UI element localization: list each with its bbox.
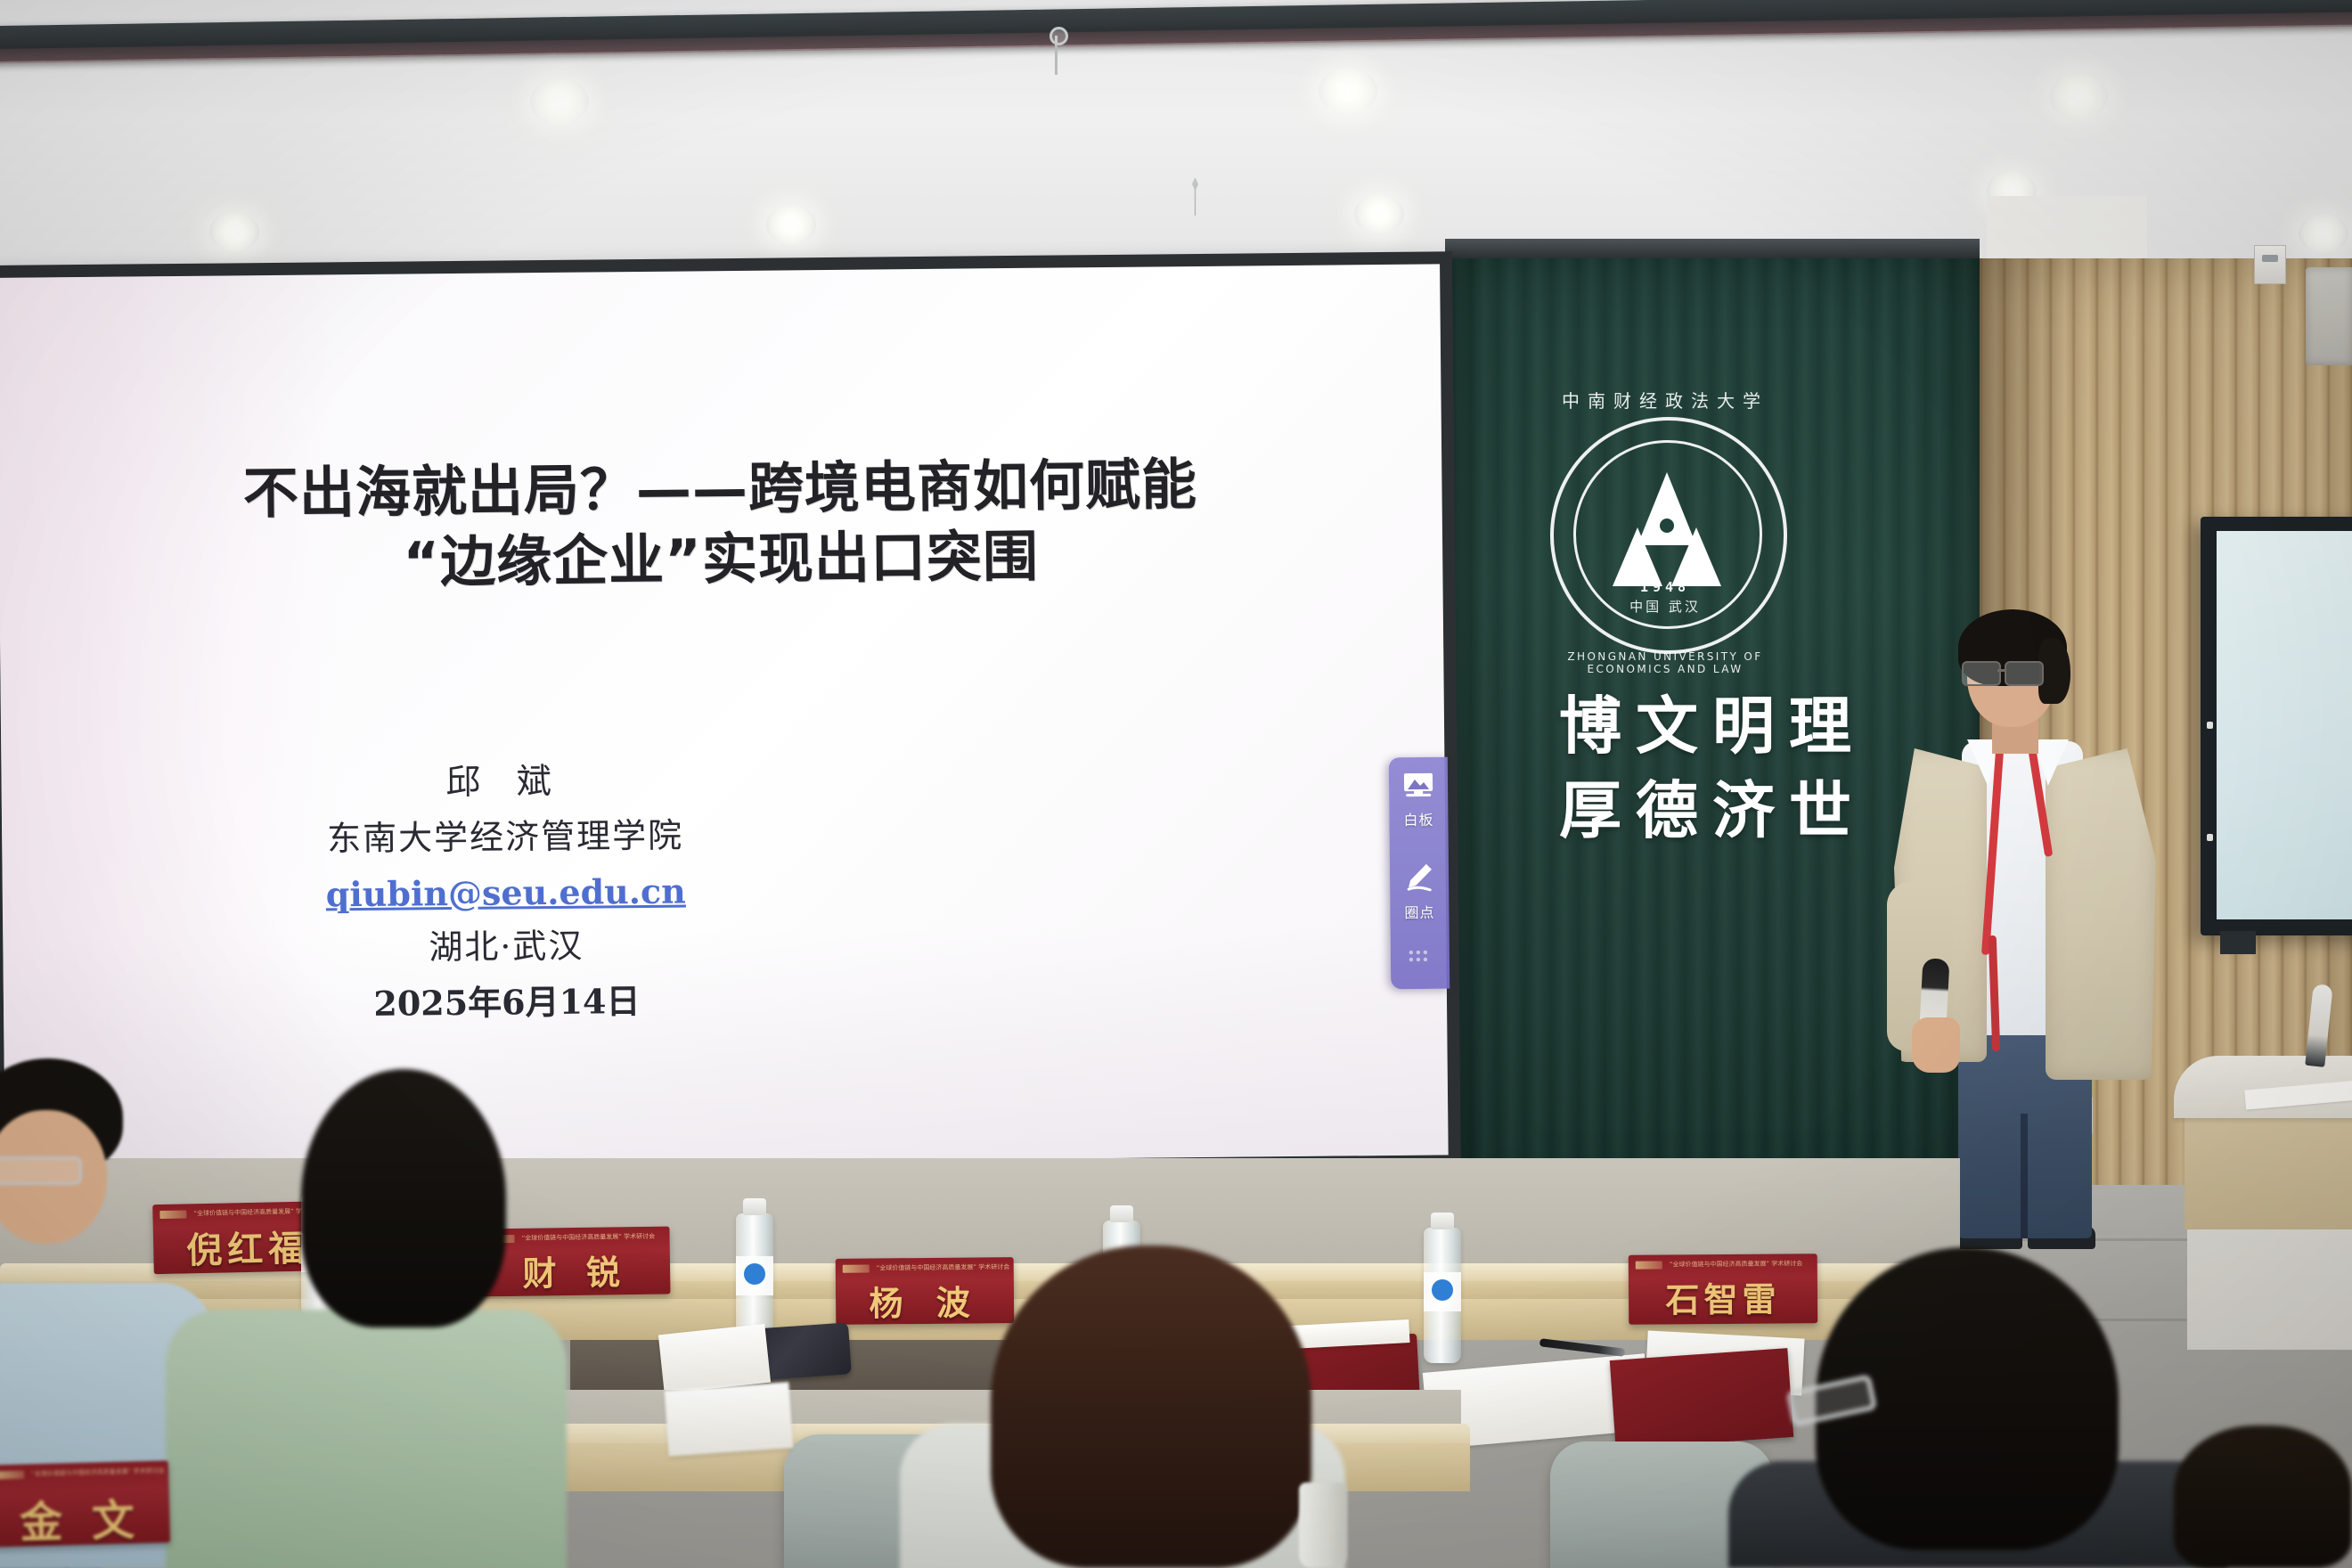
thermos-cup [1299, 1482, 1347, 1568]
side-display-screen [2217, 531, 2352, 919]
ceiling-downlight [2299, 214, 2348, 253]
bottle-badge-icon [744, 1263, 765, 1285]
university-logo-icon: 中南财经政法大学 1948 中国 武汉 ZHONGNAN UNIVERSITY … [1550, 417, 1791, 657]
university-motto: 博文明理 厚德济世 [1499, 684, 1926, 853]
nameplate-name: 金 文 [0, 1483, 170, 1547]
logo-english-name: ZHONGNAN UNIVERSITY OF ECONOMICS AND LAW [1550, 650, 1780, 675]
nameplate-header: “全球价值链与中国经济高质量发展” 学术研讨会 [836, 1261, 1014, 1275]
audience-head [1816, 1247, 2119, 1568]
eyeglasses-icon [1962, 661, 2054, 684]
audience-head [0, 1058, 134, 1263]
nameplate: “全球价值链与中国经济高质量发展” 学术研讨会 金 文 [0, 1460, 170, 1547]
nameplate-subtitle: “全球价值链与中国经济高质量发展” 学术研讨会 [877, 1262, 1010, 1272]
whiteboard-icon [1389, 772, 1448, 804]
nameplate-logo-icon [1636, 1261, 1662, 1269]
toolbar-annotate-label: 圈点 [1390, 901, 1449, 923]
nameplate-name: 石智雷 [1629, 1271, 1817, 1321]
ceiling-downlight [766, 205, 816, 244]
slide-title: 不出海就出局？——跨境电商如何赋能 “边缘企业”实现出口突围 [0, 446, 1443, 601]
presenter-jacket-right [2046, 748, 2156, 1080]
toolbar-whiteboard-label: 白板 [1389, 808, 1448, 830]
red-folder [1610, 1348, 1793, 1450]
bottle-label [736, 1256, 773, 1295]
presenter-person [1880, 615, 2147, 1247]
audience-hair [2174, 1425, 2352, 1568]
slide-title-line-2: “边缘企业”实现出口突围 [0, 518, 1443, 602]
nameplate-name: 财 锐 [481, 1245, 671, 1296]
nameplate-subtitle: “全球价值链与中国经济高质量发展” 学术研讨会 [1670, 1259, 1803, 1269]
ceiling-downlight [1319, 68, 1377, 114]
logo-triangle-top [1637, 472, 1696, 545]
projected-slide: 不出海就出局？——跨境电商如何赋能 “边缘企业”实现出口突围 邱 斌 东南大学经… [0, 264, 1449, 1169]
conference-room-photo: 中南财经政法大学 1948 中国 武汉 ZHONGNAN UNIVERSITY … [0, 0, 2352, 1568]
audience-eyeglasses-icon [0, 1156, 82, 1185]
bottle-cap [743, 1198, 766, 1215]
slide-date: 2025年6月14日 [4, 970, 1011, 1034]
water-bottle [1424, 1228, 1461, 1363]
wall-speaker-icon [2306, 267, 2352, 365]
nameplate: “全球价值链与中国经济高质量发展” 学术研讨会 杨 波 [836, 1257, 1015, 1325]
logo-chinese-name: 中南财经政法大学 [1550, 387, 1780, 412]
nameplate-logo-icon [159, 1210, 186, 1219]
logo-city: 中国 武汉 [1550, 597, 1780, 616]
logo-triangle-mark [1614, 472, 1719, 588]
slide-email-link[interactable]: qiubin@seu.edu.cn [3, 861, 1010, 925]
ceiling-downlight [1354, 194, 1404, 233]
slide-affiliation: 东南大学经济管理学院 [2, 805, 1009, 870]
audience-head [2174, 1425, 2352, 1568]
audience-head [991, 1245, 1311, 1568]
nameplate-header: “全球价值链与中国经济高质量发展” 学术研讨会 [0, 1464, 168, 1481]
bottle-cap [1110, 1205, 1133, 1222]
eyeglass-lens-right [2005, 661, 2044, 686]
bottle-badge-icon [1432, 1279, 1453, 1301]
eyeglass-bridge [1997, 669, 2006, 672]
nameplate: “全球价值链与中国经济高质量发展” 学术研讨会 财 锐 [480, 1227, 670, 1297]
screen-hook-icon [1049, 27, 1064, 73]
nameplate: “全球价值链与中国经济高质量发展” 学术研讨会 石智雷 [1629, 1254, 1818, 1324]
ceiling-downlight [209, 212, 259, 251]
more-dots-icon [1391, 948, 1450, 968]
motto-line-1: 博文明理 [1499, 684, 1926, 769]
ceiling-downlight [2049, 73, 2108, 119]
audience-hair [991, 1245, 1311, 1568]
audience-shoulders [166, 1310, 567, 1568]
monitor-button[interactable] [2207, 722, 2213, 729]
nameplate-header: “全球价值链与中国经济高质量发展” 学术研讨会 [481, 1230, 670, 1245]
screen-glare-left [0, 274, 344, 1169]
toolbar-annotate-button[interactable]: 圈点 [1390, 862, 1450, 923]
toolbar-more-label [1391, 972, 1450, 973]
ceiling-downlight [530, 78, 589, 125]
nameplate-subtitle: “全球价值链与中国经济高质量发展” 学术研讨会 [522, 1232, 656, 1243]
logo-founding-year: 1948 [1550, 579, 1780, 595]
audience-hair [301, 1069, 506, 1327]
presenter-trouser-seam [2021, 1114, 2028, 1238]
bottle-cap [1431, 1213, 1454, 1229]
logo-triangle-dot [1660, 519, 1674, 533]
slide-location: 湖北·武汉 [3, 915, 1010, 979]
eyeglass-lens-left [1962, 661, 2001, 686]
paper-document [658, 1324, 771, 1393]
banner-top-trim [1445, 239, 1980, 258]
bottle-label [1424, 1272, 1461, 1311]
presenter-hand-left [1912, 1017, 1960, 1073]
slide-presenter-name: 邱 斌 [1, 749, 1009, 815]
monitor-button[interactable] [2207, 834, 2213, 841]
wall-sensor-icon [2254, 245, 2286, 284]
nameplate-name: 杨 波 [836, 1275, 1014, 1325]
slide-presenter-block: 邱 斌 东南大学经济管理学院 qiubin@seu.edu.cn 湖北·武汉 2… [1, 749, 1010, 1034]
pencil-icon [1390, 862, 1449, 897]
toolbar-more-button[interactable] [1391, 948, 1450, 973]
motto-line-2: 厚德济世 [1499, 769, 1926, 853]
slide-title-line-1: 不出海就出局？——跨境电商如何赋能 [243, 452, 1198, 526]
audience-head [301, 1069, 506, 1336]
monitor-stand [2220, 931, 2256, 954]
nameplate-header: “全球价值链与中国经济高质量发展” 学术研讨会 [1629, 1257, 1817, 1270]
screen-side-toolbar[interactable]: 白板 圈点 [1389, 757, 1450, 990]
side-display-monitor [2201, 517, 2352, 935]
paper-document [665, 1382, 794, 1457]
nameplate-subtitle: “全球价值链与中国经济高质量发展” 学术研讨会 [31, 1466, 165, 1479]
toolbar-whiteboard-button[interactable]: 白板 [1389, 772, 1449, 830]
nameplate-logo-icon [0, 1470, 24, 1479]
nameplate-logo-icon [843, 1264, 870, 1272]
projection-screen: 不出海就出局？——跨境电商如何赋能 “边缘企业”实现出口突围 邱 斌 东南大学经… [0, 251, 1461, 1183]
